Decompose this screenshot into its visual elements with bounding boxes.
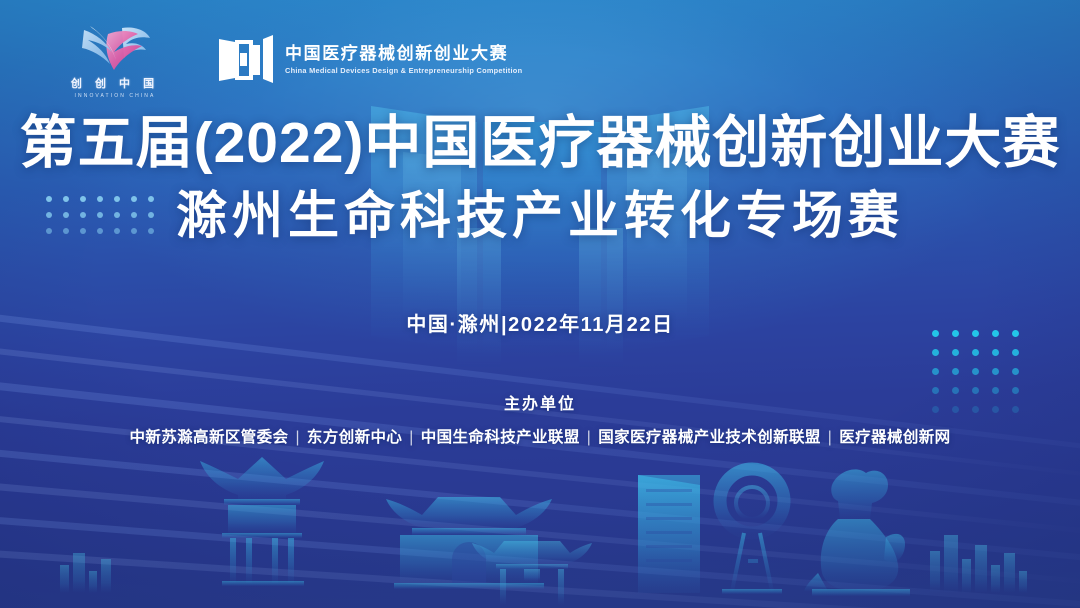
organizer-item: 中国生命科技产业联盟 <box>421 429 580 446</box>
merlion-statue-silhouette <box>804 469 910 596</box>
chinese-pavilion-silhouette <box>200 457 324 586</box>
logo-divider <box>194 37 195 81</box>
date-location-bar: 中国·滁州|2022年11月22日 <box>0 308 1080 337</box>
organizer-separator: | <box>580 429 598 447</box>
innovation-logo-cn-label: 创 创 中 国 <box>60 78 170 90</box>
page-title: 第五届(2022)中国医疗器械创新创业大赛 <box>0 112 1080 174</box>
organizer-separator: | <box>288 429 306 447</box>
organizer-item: 医疗器械创新网 <box>839 429 950 446</box>
competition-name-cn: 中国医疗器械创新创业大赛 <box>285 43 522 64</box>
organizer-separator: | <box>402 429 420 447</box>
innovation-china-logo: 创 创 中 国 INNOVATION CHINA <box>60 24 170 94</box>
city-skyline-silhouette <box>0 433 1080 608</box>
logo-bar: 创 创 中 国 INNOVATION CHINA 中国医疗器械创新创业大赛 Ch… <box>60 24 522 94</box>
distant-skyline-left-silhouette <box>60 553 111 593</box>
innovation-logo-en-label: INNOVATION CHINA <box>60 93 170 100</box>
organizer-separator: | <box>821 429 839 447</box>
city-gate-silhouette <box>386 497 552 589</box>
organizer-list: 中新苏滁高新区管委会|东方创新中心|中国生命科技产业联盟|国家医疗器械产业技术创… <box>0 425 1080 447</box>
event-poster: 创 创 中 国 INNOVATION CHINA 中国医疗器械创新创业大赛 Ch… <box>0 0 1080 608</box>
organizer-item: 东方创新中心 <box>307 429 402 446</box>
dove-bird-icon <box>78 24 152 72</box>
organizer-item: 国家医疗器械产业技术创新联盟 <box>598 429 821 446</box>
organizer-heading: 主办单位 <box>0 390 1080 414</box>
modern-tower-silhouette <box>638 475 700 593</box>
paifang-archway-silhouette <box>472 541 592 605</box>
diagonal-light-streaks <box>0 308 1080 608</box>
ring-sculpture-silhouette <box>720 469 784 594</box>
distant-skyline-silhouette <box>930 535 1027 593</box>
open-door-mark-icon <box>219 33 273 85</box>
competition-name-en: China Medical Devices Design & Entrepren… <box>285 65 522 76</box>
competition-logo: 中国医疗器械创新创业大赛 China Medical Devices Desig… <box>219 33 522 85</box>
title-block: 第五届(2022)中国医疗器械创新创业大赛 滁州生命科技产业转化专场赛 <box>0 112 1080 245</box>
page-subtitle: 滁州生命科技产业转化专场赛 <box>0 187 1080 245</box>
organizer-item: 中新苏滁高新区管委会 <box>129 429 288 446</box>
